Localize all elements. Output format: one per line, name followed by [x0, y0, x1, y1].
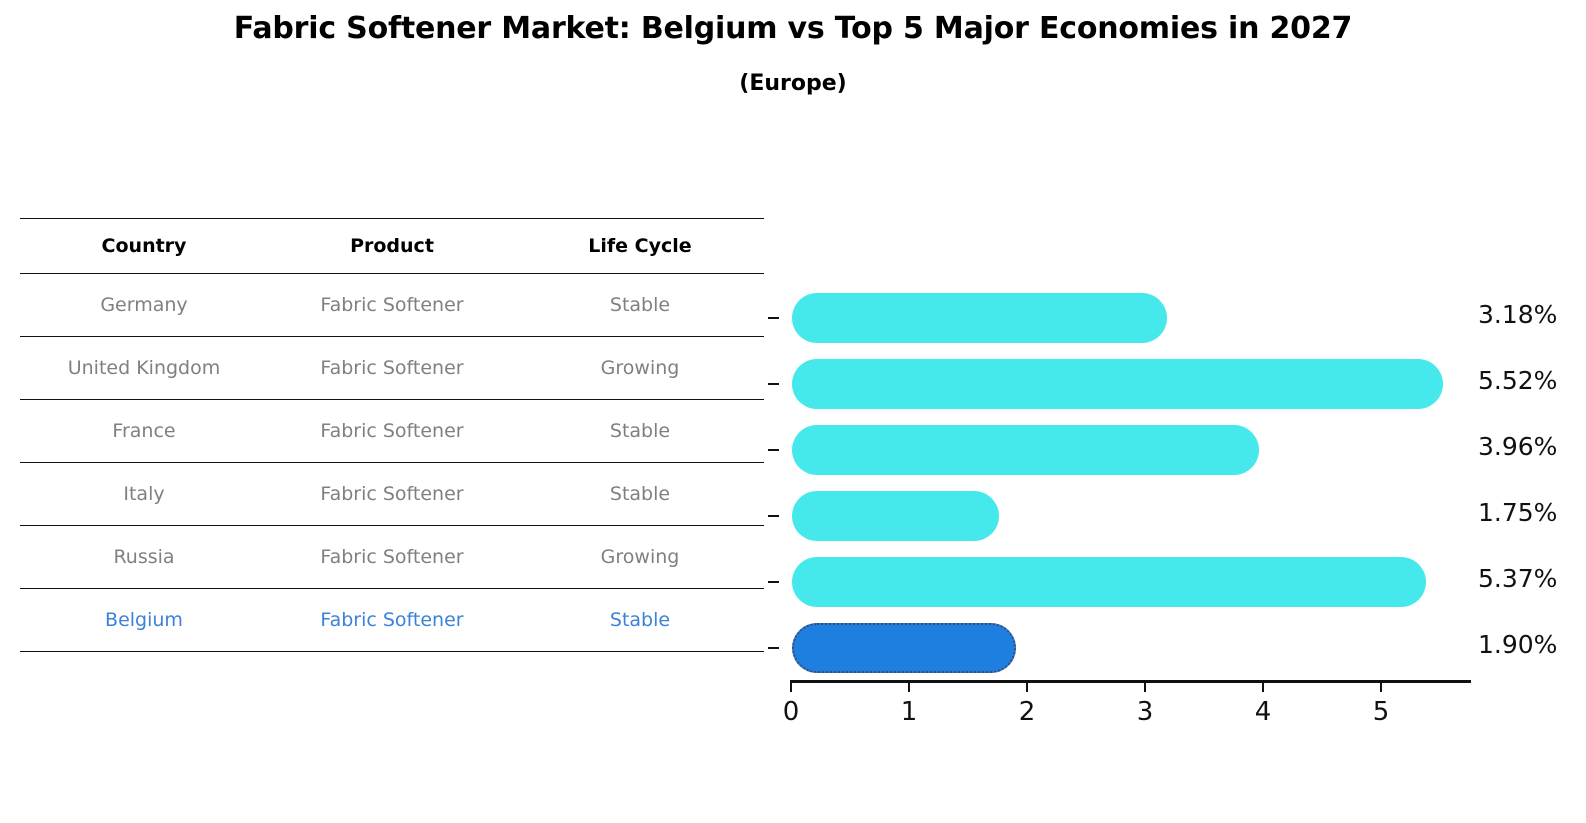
cell-product: Fabric Softener — [268, 463, 516, 526]
bar-belgium-highlighted — [792, 623, 1016, 673]
x-axis-tick — [1144, 680, 1146, 692]
cell-country: Italy — [20, 463, 268, 526]
y-axis-tick — [768, 515, 779, 517]
country-table-panel: Country Product Life Cycle Germany Fabri… — [20, 218, 764, 652]
title-block: Fabric Softener Market: Belgium vs Top 5… — [0, 12, 1586, 96]
cell-product: Fabric Softener — [268, 337, 516, 400]
table-row: United Kingdom Fabric Softener Growing — [20, 337, 764, 400]
cell-country: Belgium — [20, 589, 268, 652]
bar-row: 3.96% — [768, 417, 1586, 483]
bar-italy — [792, 491, 999, 541]
table-header: Country Product Life Cycle — [20, 219, 764, 274]
column-header-country: Country — [20, 219, 268, 274]
x-axis-tick — [1380, 680, 1382, 692]
bar-france — [792, 425, 1259, 475]
x-axis-tick-label: 3 — [1137, 697, 1154, 727]
cell-life-cycle: Stable — [516, 400, 764, 463]
cell-product: Fabric Softener — [268, 526, 516, 589]
bar-value-label: 5.37% — [1478, 564, 1557, 593]
x-axis-tick — [1026, 680, 1028, 692]
bar-united-kingdom — [792, 359, 1443, 409]
x-axis-tick-label: 4 — [1255, 697, 1272, 727]
bar-russia — [792, 557, 1426, 607]
x-axis-line — [790, 680, 1471, 683]
cell-life-cycle: Growing — [516, 337, 764, 400]
table-row: Italy Fabric Softener Stable — [20, 463, 764, 526]
column-header-life-cycle: Life Cycle — [516, 219, 764, 274]
table-header-row: Country Product Life Cycle — [20, 219, 764, 274]
cell-life-cycle: Growing — [516, 526, 764, 589]
x-axis-tick-label: 2 — [1019, 697, 1036, 727]
bar-row: 1.90% — [768, 615, 1586, 681]
page-subtitle: (Europe) — [0, 71, 1586, 96]
bar-row: 5.37% — [768, 549, 1586, 615]
table-row: Russia Fabric Softener Growing — [20, 526, 764, 589]
bar-value-label: 3.96% — [1478, 432, 1557, 461]
table-row: France Fabric Softener Stable — [20, 400, 764, 463]
cell-life-cycle: Stable — [516, 589, 764, 652]
country-table: Country Product Life Cycle Germany Fabri… — [20, 218, 764, 652]
page-title: Fabric Softener Market: Belgium vs Top 5… — [0, 12, 1586, 47]
bar-value-label: 3.18% — [1478, 300, 1557, 329]
table-row: Germany Fabric Softener Stable — [20, 274, 764, 337]
bar-row: 1.75% — [768, 483, 1586, 549]
bar-value-label: 1.90% — [1478, 630, 1557, 659]
bar-germany — [792, 293, 1167, 343]
x-axis-tick-label: 0 — [783, 697, 800, 727]
y-axis-tick — [768, 647, 779, 649]
x-axis-tick — [908, 680, 910, 692]
x-axis-tick — [790, 680, 792, 692]
cell-country: France — [20, 400, 268, 463]
cell-product: Fabric Softener — [268, 274, 516, 337]
cell-country: Russia — [20, 526, 268, 589]
cell-country: United Kingdom — [20, 337, 268, 400]
x-axis-tick-label: 5 — [1373, 697, 1390, 727]
y-axis-tick — [768, 449, 779, 451]
bar-value-label: 1.75% — [1478, 498, 1557, 527]
bar-row: 5.52% — [768, 351, 1586, 417]
bar-row: 3.18% — [768, 285, 1586, 351]
cell-product: Fabric Softener — [268, 400, 516, 463]
y-axis-tick — [768, 317, 779, 319]
cell-life-cycle: Stable — [516, 274, 764, 337]
x-axis-tick-label: 1 — [901, 697, 918, 727]
cell-product: Fabric Softener — [268, 589, 516, 652]
y-axis-tick — [768, 581, 779, 583]
table-body: Germany Fabric Softener Stable United Ki… — [20, 274, 764, 652]
y-axis-tick — [768, 383, 779, 385]
x-axis-tick — [1262, 680, 1264, 692]
column-header-product: Product — [268, 219, 516, 274]
bar-value-label: 5.52% — [1478, 366, 1557, 395]
cell-country: Germany — [20, 274, 268, 337]
table-row-highlighted: Belgium Fabric Softener Stable — [20, 589, 764, 652]
cell-life-cycle: Stable — [516, 463, 764, 526]
